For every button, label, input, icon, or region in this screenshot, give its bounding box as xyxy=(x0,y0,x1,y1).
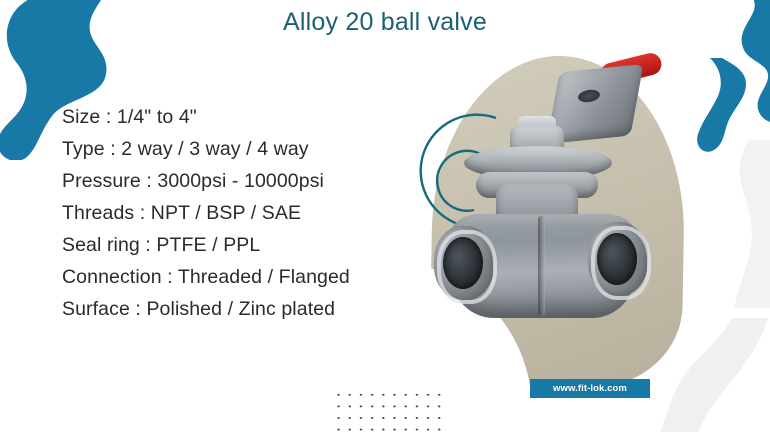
valve-body-seam xyxy=(538,216,545,316)
infographic-canvas: Alloy 20 ball valve Size : 1/4" to 4" Ty… xyxy=(0,0,770,433)
valve-port-left xyxy=(434,226,494,300)
valve-port-right-bore xyxy=(597,233,637,285)
dot-grid-icon xyxy=(333,389,445,433)
valve-port-left-bore xyxy=(443,237,483,289)
valve-port-right xyxy=(588,222,648,296)
page-title: Alloy 20 ball valve xyxy=(0,8,770,37)
product-photo xyxy=(392,46,692,386)
website-badge[interactable]: www.fit-lok.com xyxy=(530,379,650,398)
